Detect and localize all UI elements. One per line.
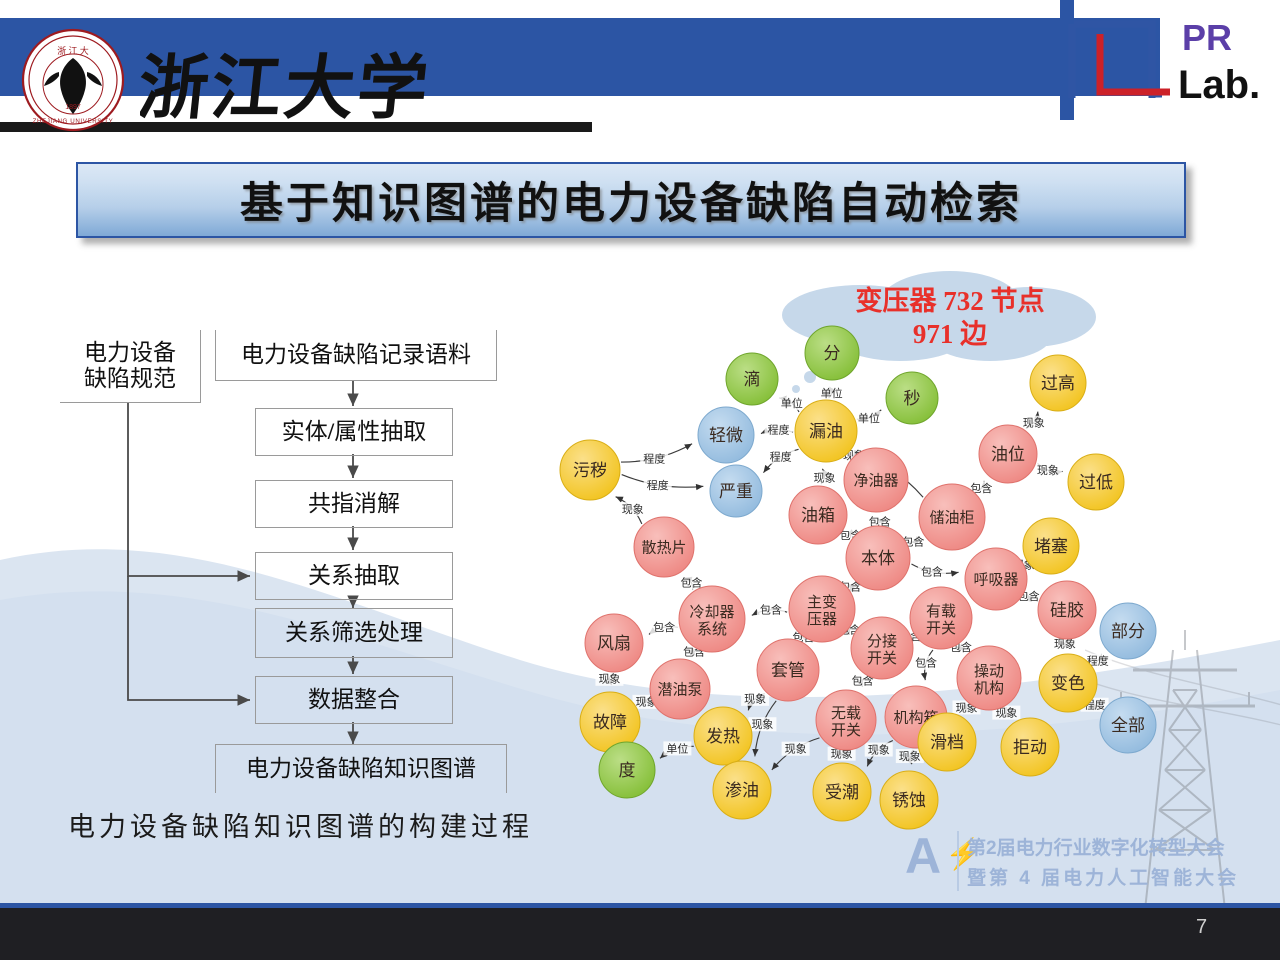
svg-text:现象: 现象: [744, 693, 766, 706]
graph-node-label: 渗油: [725, 781, 759, 800]
graph-node-label: 油位: [991, 445, 1025, 464]
flow-node-filter: 关系筛选处理: [255, 608, 453, 658]
knowledge-graph: 变压器 732 节点 971 边 单位单位单位程度程度程度程度现象现象现象现象包…: [530, 255, 1280, 835]
svg-text:程度: 程度: [767, 422, 789, 436]
graph-edge-label: 现象: [811, 471, 839, 485]
flow-node-label: 电力设备缺陷记录语料: [241, 342, 471, 368]
flow-node-label: 数据整合: [308, 687, 400, 713]
graph-node-label: 部分: [1111, 622, 1145, 641]
graph-edge-label: 单位: [778, 396, 806, 410]
graph-node[interactable]: 分接开关: [851, 617, 913, 679]
flow-node-relation: 关系抽取: [255, 552, 453, 600]
graph-node[interactable]: 风扇: [585, 614, 643, 672]
graph-node-label: 分接: [867, 633, 897, 650]
graph-node[interactable]: 发热: [694, 707, 752, 765]
graph-node-label: 污秽: [573, 461, 607, 480]
graph-node[interactable]: 呼吸器: [965, 548, 1027, 610]
graph-node-label: 发热: [706, 727, 740, 746]
graph-node-label: 净油器: [853, 472, 898, 489]
svg-text:现象: 现象: [814, 471, 836, 484]
graph-node[interactable]: 硅胶: [1038, 581, 1096, 639]
graph-node-label: 呼吸器: [973, 571, 1018, 588]
watermark-line2: 暨第 4 届电力人工智能大会: [967, 863, 1239, 890]
flow-node-label: 共指消解: [308, 491, 400, 517]
svg-text:单位: 单位: [821, 386, 843, 400]
svg-text:包含: 包含: [915, 656, 937, 670]
slide-title-banner: 基于知识图谱的电力设备缺陷自动检索: [76, 162, 1186, 238]
graph-node-layer: 滴分秒漏油轻微严重污秽过高油位过低净油器油箱储油柜堵塞散热片本体呼吸器硅胶冷却器…: [560, 326, 1156, 829]
graph-node-label: 操动: [974, 663, 1004, 680]
graph-node[interactable]: 拒动: [1001, 718, 1059, 776]
graph-node-label: 严重: [719, 482, 753, 501]
pr-lab-line2: Lab.: [1178, 63, 1260, 107]
graph-node[interactable]: 部分: [1100, 603, 1156, 659]
graph-node-label: 开关: [867, 650, 897, 667]
graph-node-label: 受潮: [825, 783, 859, 802]
graph-edge-label: 现象: [865, 743, 893, 757]
graph-node[interactable]: 散热片: [634, 517, 694, 577]
graph-node[interactable]: 潜油泵: [650, 659, 710, 719]
graph-node[interactable]: 锈蚀: [880, 771, 938, 829]
svg-text:包含: 包含: [680, 576, 702, 590]
svg-text:现象: 现象: [598, 673, 620, 686]
graph-node-label: 风扇: [597, 634, 631, 653]
graph-edge-label: 现象: [748, 717, 776, 731]
footer-bar: [0, 908, 1280, 960]
flowchart: 电力设备缺陷规范 电力设备缺陷记录语料 实体/属性抽取 共指消解 关系抽取 关系…: [50, 330, 530, 800]
flow-node-label: 电力设备缺陷规范: [84, 340, 176, 393]
graph-node-label: 秒: [904, 389, 921, 408]
university-name-calligraphy: 浙江大学: [140, 36, 440, 136]
flow-node-spec: 电力设备缺陷规范: [60, 330, 201, 403]
graph-node[interactable]: 污秽: [560, 440, 620, 500]
graph-node-label: 度: [619, 761, 636, 780]
stat-cloud-line2: 971 边: [913, 319, 988, 349]
graph-node[interactable]: 漏油: [795, 400, 857, 462]
svg-text:现象: 现象: [899, 750, 921, 763]
seal-text-en: ZHEJIANG UNIVERSITY: [33, 118, 114, 125]
svg-text:浙 江 大: 浙 江 大: [57, 45, 89, 56]
seal-year: 1897: [65, 104, 81, 111]
graph-node-label: 机构: [974, 680, 1004, 697]
graph-node[interactable]: 变色: [1039, 654, 1097, 712]
svg-text:单位: 单位: [666, 741, 688, 755]
svg-text:现象: 现象: [622, 503, 644, 516]
graph-node[interactable]: 套管: [757, 639, 819, 701]
graph-node-label: 储油柜: [929, 509, 974, 526]
graph-node-label: 轻微: [709, 426, 743, 445]
watermark-letter-a: A: [905, 827, 941, 885]
graph-edge-label: 程度: [767, 450, 795, 464]
svg-text:包含: 包含: [653, 620, 675, 634]
graph-edge-label: 单位: [663, 741, 691, 755]
graph-node[interactable]: 过低: [1068, 454, 1124, 510]
graph-edge-label: 现象: [595, 672, 623, 686]
graph-node-label: 过低: [1079, 473, 1113, 492]
watermark-divider: [957, 831, 959, 891]
svg-text:浙江大学: 浙江大学: [140, 50, 435, 128]
svg-text:现象: 现象: [751, 718, 773, 731]
flow-node-label: 关系抽取: [308, 563, 400, 589]
graph-node[interactable]: 净油器: [844, 448, 908, 512]
graph-edge-label: 包含: [912, 656, 940, 670]
graph-edge-label: 包含: [918, 565, 946, 579]
graph-node[interactable]: 全部: [1100, 697, 1156, 753]
graph-node[interactable]: 轻微: [698, 407, 754, 463]
graph-node-label: 无载: [831, 705, 861, 722]
graph-node[interactable]: 冷却器系统: [679, 586, 745, 652]
graph-edge-label: 现象: [741, 692, 769, 706]
graph-node[interactable]: 渗油: [713, 761, 771, 819]
svg-text:包含: 包含: [760, 603, 782, 617]
svg-text:现象: 现象: [1037, 464, 1059, 477]
graph-node-label: 全部: [1111, 716, 1145, 735]
graph-node[interactable]: 滴: [726, 353, 778, 405]
graph-node-label: 变色: [1051, 674, 1085, 693]
watermark-line1: 第2届电力行业数字化转型大会: [967, 833, 1225, 860]
svg-text:单位: 单位: [858, 411, 880, 425]
flow-node-label: 电力设备缺陷知识图谱: [246, 756, 476, 782]
graph-node[interactable]: 储油柜: [919, 484, 985, 550]
graph-node-label: 系统: [697, 621, 727, 638]
graph-node[interactable]: 本体: [846, 526, 910, 590]
graph-node-label: 故障: [593, 713, 627, 732]
graph-node[interactable]: 有载开关: [910, 587, 972, 649]
page-title: 基于知识图谱的电力设备缺陷自动检索: [240, 169, 1022, 231]
graph-node[interactable]: 严重: [710, 465, 762, 517]
graph-node[interactable]: 主变压器: [789, 576, 855, 642]
graph-node[interactable]: 过高: [1030, 355, 1086, 411]
graph-node[interactable]: 油位: [979, 425, 1037, 483]
figure-caption: 电力设备缺陷知识图谱的构建过程: [68, 805, 533, 844]
graph-node-label: 油箱: [801, 506, 835, 525]
svg-text:程度: 程度: [647, 478, 669, 492]
graph-edge-label: 现象: [619, 502, 647, 516]
graph-edge-label: 现象: [782, 742, 810, 756]
graph-node-label: 分: [824, 344, 841, 363]
svg-text:现象: 现象: [785, 743, 807, 756]
graph-node-label: 本体: [861, 549, 895, 568]
svg-text:程度: 程度: [643, 451, 665, 465]
graph-node[interactable]: 受潮: [813, 763, 871, 821]
graph-node-label: 硅胶: [1050, 601, 1084, 620]
graph-node[interactable]: 油箱: [789, 486, 847, 544]
svg-text:现象: 现象: [1054, 638, 1076, 651]
graph-node-label: 开关: [926, 620, 956, 637]
stat-cloud-line1: 变压器 732 节点: [856, 285, 1045, 316]
graph-node[interactable]: 秒: [886, 372, 938, 424]
flow-node-merge: 数据整合: [255, 676, 453, 724]
flow-node-corpus: 电力设备缺陷记录语料: [215, 330, 497, 381]
graph-node-label: 滑档: [930, 733, 964, 752]
graph-edge-label: 程度: [644, 478, 672, 492]
svg-text:程度: 程度: [770, 450, 792, 464]
graph-edge-label: 单位: [818, 386, 846, 400]
flow-node-label: 实体/属性抽取: [282, 419, 426, 445]
svg-text:现象: 现象: [1023, 417, 1045, 430]
graph-node-label: 过高: [1041, 374, 1075, 393]
graph-edge-label: 单位: [855, 411, 883, 425]
graph-node-label: 锈蚀: [892, 791, 926, 810]
graph-node[interactable]: 堵塞: [1023, 518, 1079, 574]
flow-node-coref: 共指消解: [255, 480, 453, 528]
graph-node-label: 拒动: [1013, 738, 1047, 757]
graph-edge-label: 包含: [757, 603, 785, 617]
graph-edge-label: 包含: [650, 620, 678, 634]
graph-edge-label: 现象: [1020, 416, 1048, 430]
graph-node[interactable]: 无载开关: [816, 690, 876, 750]
conference-watermark: A ⚡ 第2届电力行业数字化转型大会 暨第 4 届电力人工智能大会: [905, 825, 1280, 905]
graph-node-label: 主变: [807, 594, 837, 611]
graph-node-label: 套管: [771, 661, 805, 680]
graph-node-label: 潜油泵: [657, 681, 702, 698]
graph-node-label: 滴: [744, 370, 761, 389]
graph-node-label: 堵塞: [1034, 537, 1068, 556]
graph-node-label: 有载: [926, 603, 956, 620]
svg-text:现象: 现象: [868, 743, 890, 756]
graph-node[interactable]: 操动机构: [957, 646, 1021, 710]
svg-text:单位: 单位: [781, 396, 803, 410]
graph-node-label: 压器: [807, 611, 837, 628]
graph-edge-label: 现象: [1034, 463, 1062, 477]
graph-node-label: 冷却器: [689, 604, 734, 621]
pr-lab-line1: PR: [1182, 17, 1232, 58]
graph-edge-label: 程度: [640, 451, 668, 465]
zhejiang-university-seal-icon: 浙 江 大 1897 ZHEJIANG UNIVERSITY: [18, 28, 128, 132]
svg-text:包含: 包含: [921, 565, 943, 579]
pr-lab-logo: PR Lab.: [1062, 6, 1278, 124]
page-number: 7: [1196, 916, 1207, 939]
graph-node[interactable]: 度: [599, 742, 655, 798]
graph-node-label: 漏油: [809, 422, 843, 441]
flow-node-kg: 电力设备缺陷知识图谱: [215, 744, 507, 793]
graph-node[interactable]: 滑档: [918, 713, 976, 771]
flow-node-extract: 实体/属性抽取: [255, 408, 453, 456]
graph-node-label: 散热片: [641, 539, 686, 556]
flow-node-label: 关系筛选处理: [285, 620, 423, 646]
graph-node-label: 开关: [831, 722, 861, 739]
graph-node[interactable]: 分: [805, 326, 859, 380]
graph-edge-label: 程度: [764, 422, 792, 436]
